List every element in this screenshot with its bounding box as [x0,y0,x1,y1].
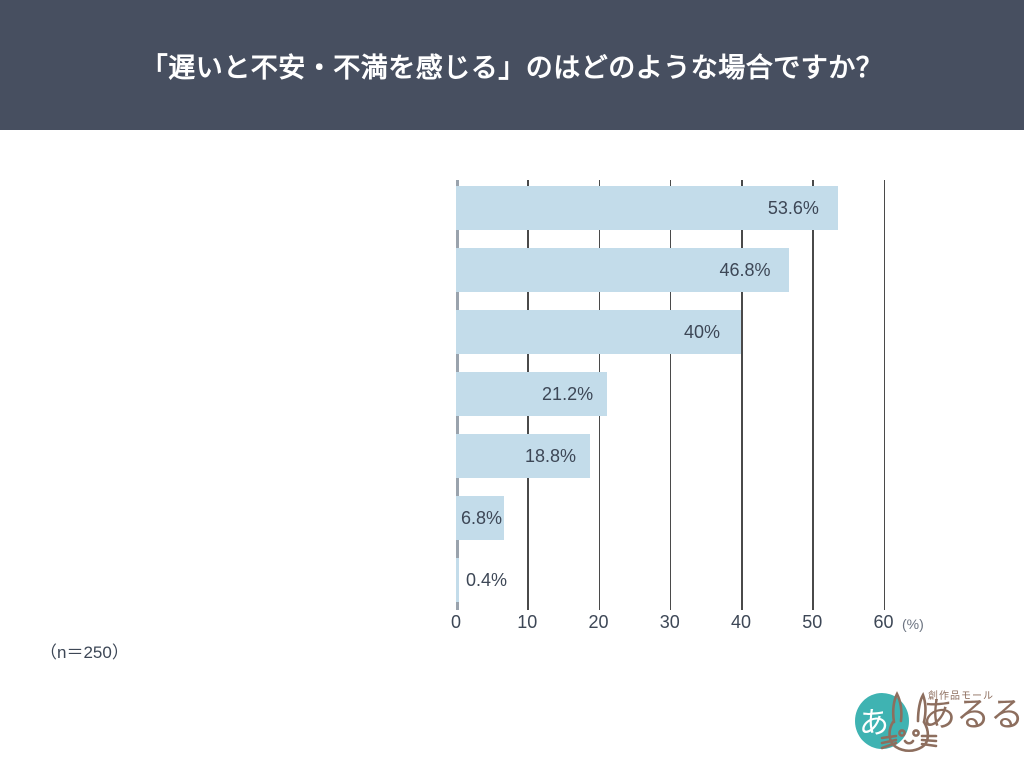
x-axis: 0 10 20 30 40 50 60 (%) [456,612,956,642]
page-title: 「遅いと不安・不満を感じる」のはどのような場合ですか？ [141,46,884,85]
plot-area: いつ届くのか分からない 53.6% 発送状況が確認できない 46.8% なぜ遅れ… [456,180,884,610]
bar-value-label: 18.8% [525,434,576,478]
x-tick-label: 10 [517,612,537,633]
logo-name: あるる [922,698,1024,732]
gridline-50 [812,180,814,610]
bar-value-label: 53.6% [768,186,819,230]
bar-value-label: 0.4% [466,558,507,602]
gridline-40 [741,180,743,610]
brand-logo: あ 創作品モール あるる [852,682,1012,760]
x-axis-unit-label: (%) [902,616,924,632]
bar-chart: いつ届くのか分からない 53.6% 発送状況が確認できない 46.8% なぜ遅れ… [0,130,1024,768]
gridline-30 [670,180,672,610]
bar-value-label: 21.2% [542,372,593,416]
x-tick-label: 0 [451,612,461,633]
bar-value-label: 46.8% [719,248,770,292]
x-tick-label: 30 [660,612,680,633]
sample-size-note: （n＝250） [40,638,129,663]
bar [456,558,459,602]
x-tick-label: 60 [873,612,893,633]
bar-value-label: 6.8% [461,496,502,540]
x-tick-label: 50 [802,612,822,633]
header-bar: 「遅いと不安・不満を感じる」のはどのような場合ですか？ [0,0,1024,130]
x-tick-label: 40 [731,612,751,633]
bar-value-label: 40% [684,310,720,354]
gridline-60 [884,180,886,610]
svg-text:あ: あ [859,707,889,740]
x-tick-label: 20 [588,612,608,633]
